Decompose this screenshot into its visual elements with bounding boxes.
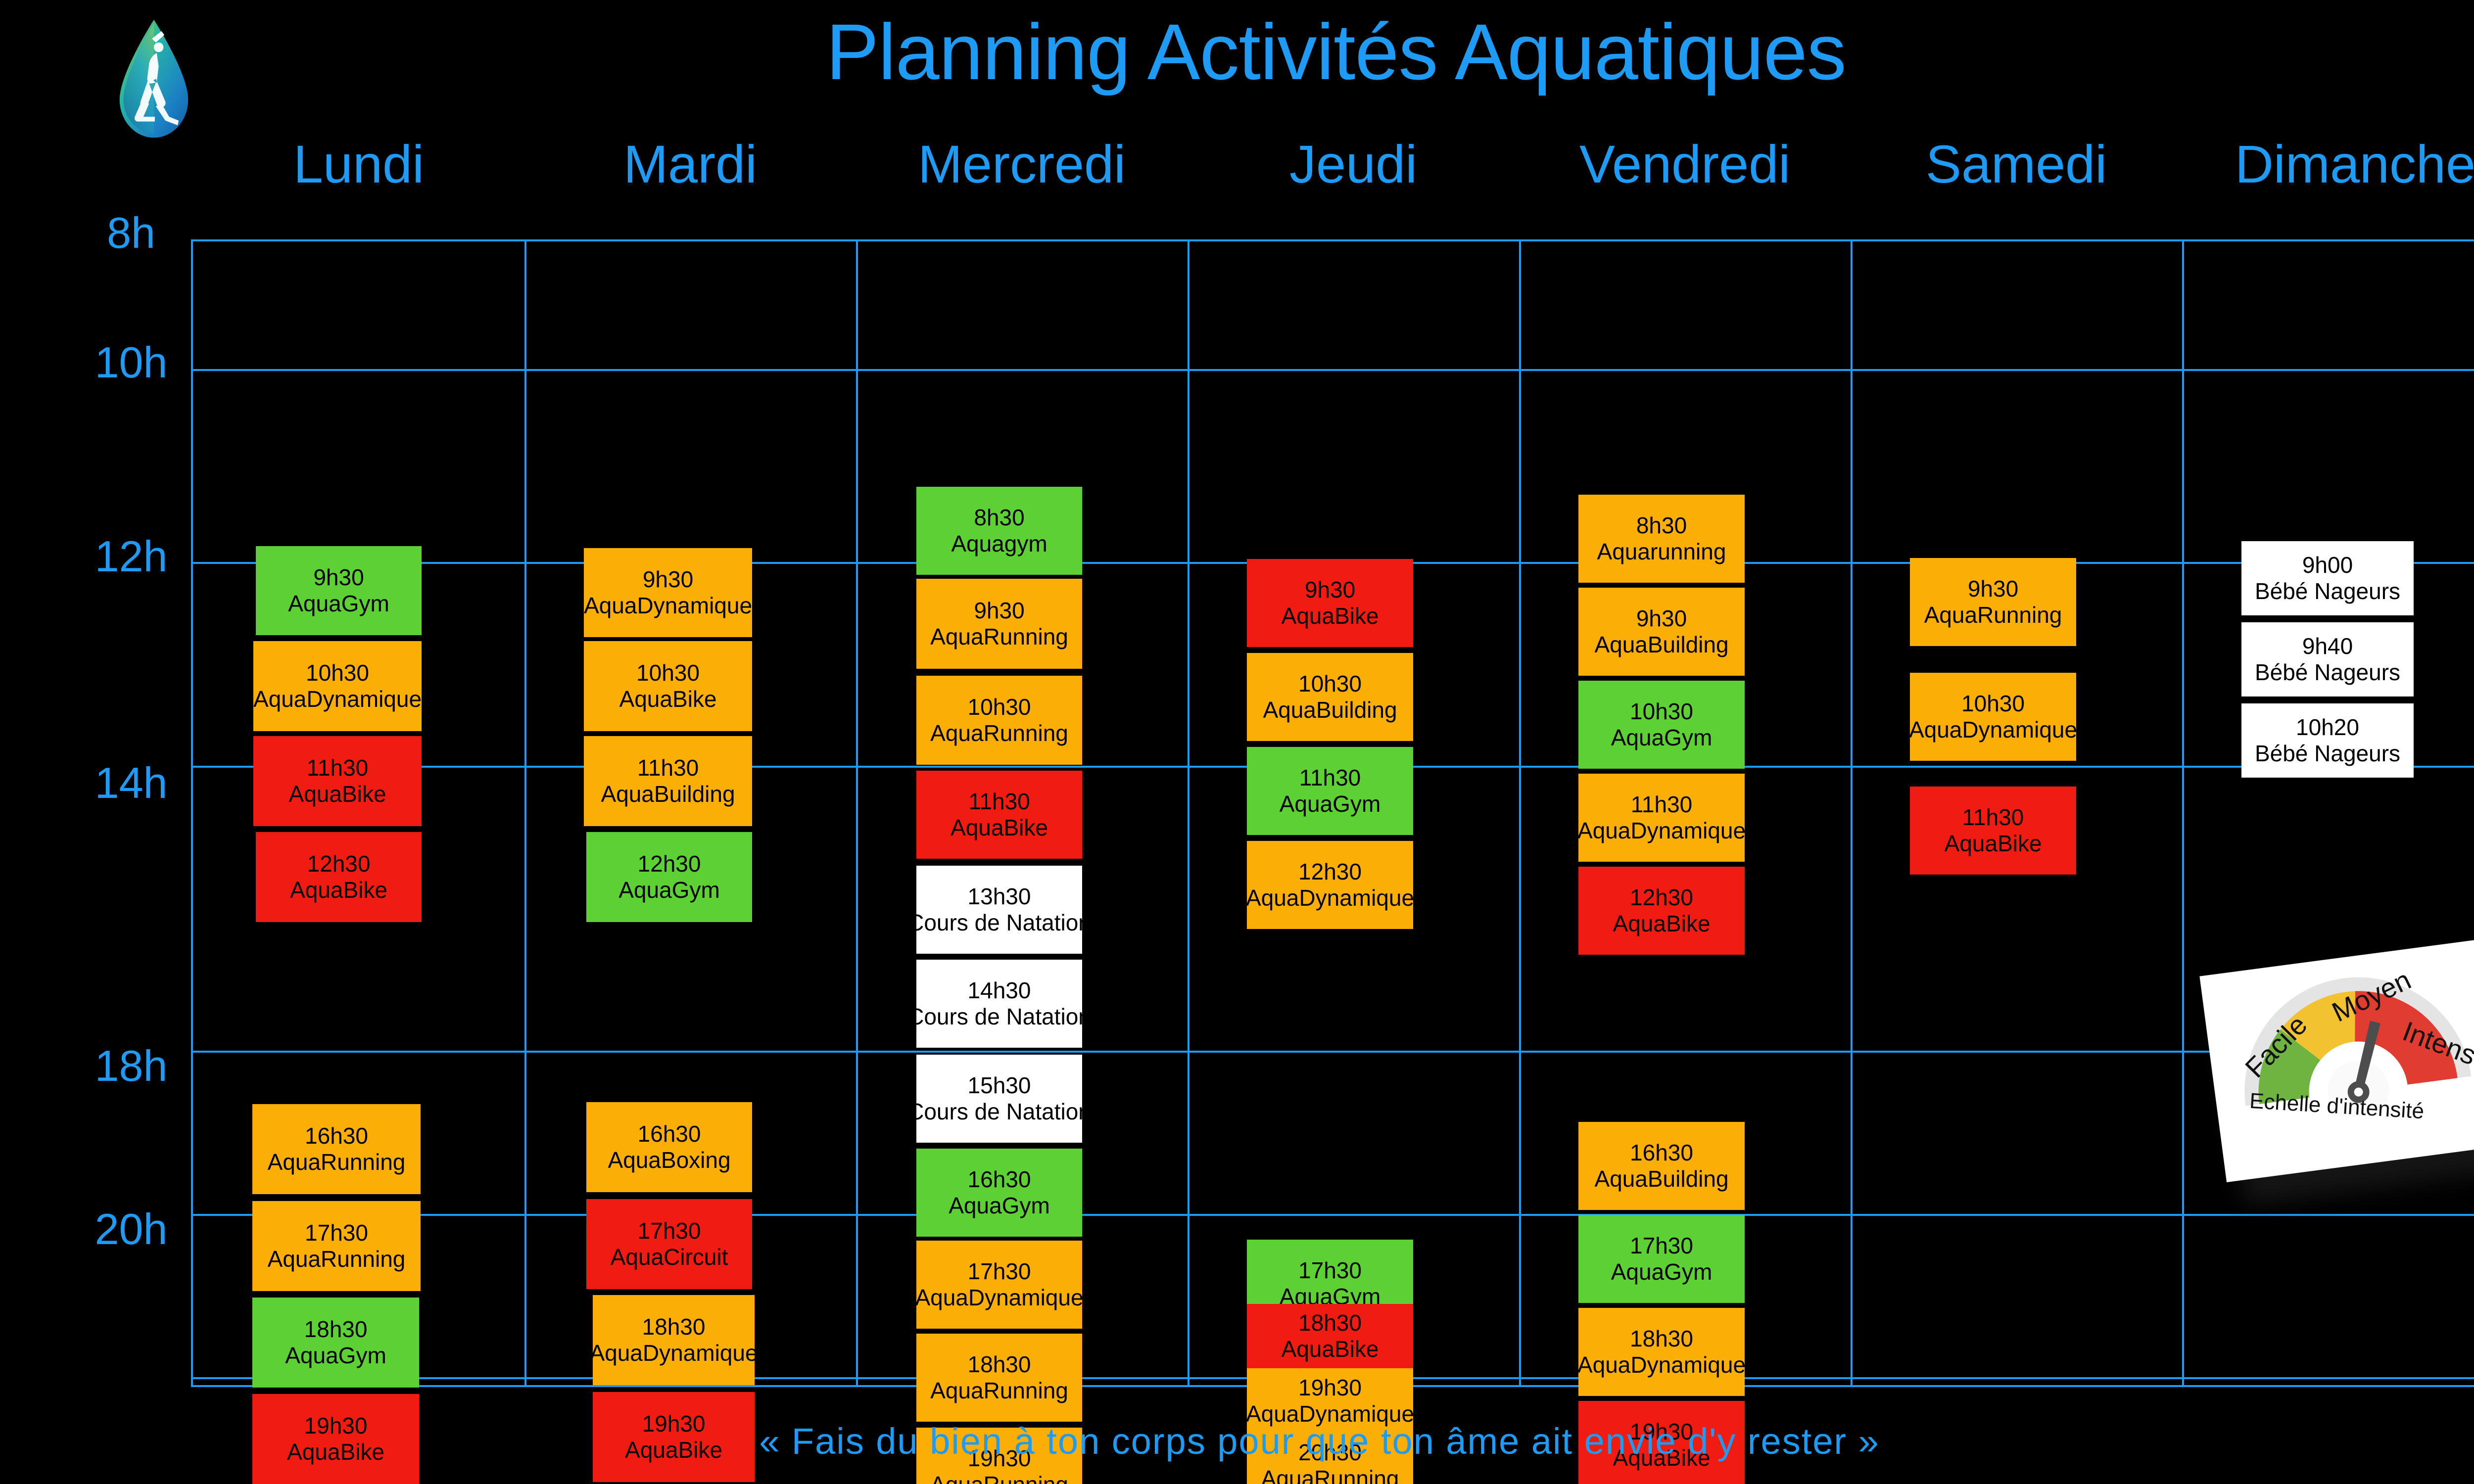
session-block[interactable]: 16h30AquaBuilding xyxy=(1578,1122,1745,1210)
session-time: 14h30 xyxy=(968,977,1031,1004)
day-header-vendredi: Vendredi xyxy=(1519,135,1851,194)
session-time: 18h30 xyxy=(1298,1310,1362,1336)
session-activity: AquaGym xyxy=(618,877,720,903)
session-time: 8h30 xyxy=(974,505,1024,531)
session-activity: AquaBoxing xyxy=(608,1147,730,1173)
page-title: Planning Activités Aquatiques xyxy=(495,5,2177,99)
session-time: 16h30 xyxy=(638,1121,701,1147)
session-activity: AquaRunning xyxy=(268,1149,406,1175)
session-block[interactable]: 11h30AquaBike xyxy=(253,736,422,826)
session-time: 12h30 xyxy=(1298,859,1362,885)
session-block[interactable]: 18h30AquaBike xyxy=(1247,1304,1413,1368)
session-activity: AquaBike xyxy=(619,686,717,712)
grid-hline xyxy=(193,1051,2474,1053)
session-time: 18h30 xyxy=(1630,1326,1693,1352)
session-block[interactable]: 11h30AquaBike xyxy=(916,771,1082,859)
session-time: 18h30 xyxy=(304,1316,368,1343)
session-activity: AquaBike xyxy=(290,877,387,903)
session-activity: AquaBike xyxy=(1945,831,2042,857)
session-activity: AquaGym xyxy=(949,1193,1050,1219)
water-drop-swimmer-logo xyxy=(92,18,216,141)
session-time: 17h30 xyxy=(638,1218,701,1244)
session-block[interactable]: 9h30AquaBike xyxy=(1247,559,1413,647)
session-block[interactable]: 9h30AquaBuilding xyxy=(1578,588,1745,676)
time-label-12h: 12h xyxy=(74,533,188,580)
schedule-grid: 9h30AquaGym10h30AquaDynamique11h30AquaBi… xyxy=(191,239,2474,1387)
session-block[interactable]: 9h30AquaRunning xyxy=(916,579,1082,669)
time-label-14h: 14h xyxy=(74,760,188,806)
day-header-mercredi: Mercredi xyxy=(856,135,1188,194)
schedule-poster: Planning Activités Aquatiques Lundi Mard… xyxy=(0,0,2474,1484)
session-time: 17h30 xyxy=(968,1258,1031,1285)
session-activity: AquaBuilding xyxy=(601,781,735,807)
session-activity: AquaDynamique xyxy=(593,1340,755,1366)
session-activity: AquaRunning xyxy=(930,624,1068,650)
session-time: 11h30 xyxy=(968,788,1030,815)
session-block[interactable]: 11h30AquaGym xyxy=(1247,747,1413,835)
session-time: 9h30 xyxy=(1636,605,1687,632)
session-time: 9h40 xyxy=(2302,633,2353,659)
session-block[interactable]: 10h30AquaGym xyxy=(1578,681,1745,769)
session-time: 18h30 xyxy=(642,1314,706,1340)
session-time: 10h30 xyxy=(968,694,1031,720)
session-block[interactable]: 11h30AquaBike xyxy=(1910,787,2076,875)
session-activity: AquaRunning xyxy=(268,1246,406,1272)
session-activity: Aquagym xyxy=(951,531,1047,557)
session-activity: AquaDynamique xyxy=(253,686,422,712)
session-block[interactable]: 11h30AquaDynamique xyxy=(1578,774,1745,862)
session-block[interactable]: 18h30AquaGym xyxy=(252,1298,419,1388)
session-activity: AquaDynamique xyxy=(1247,885,1413,911)
session-time: 9h30 xyxy=(313,564,364,591)
session-activity: AquaBuilding xyxy=(1594,632,1728,658)
grid-hline xyxy=(193,1214,2474,1216)
session-activity: AquaGym xyxy=(1280,791,1381,817)
session-time: 19h30 xyxy=(1298,1375,1362,1401)
session-activity: AquaBuilding xyxy=(1263,697,1397,723)
session-time: 15h30 xyxy=(968,1072,1031,1099)
session-block[interactable]: 17h30AquaCircuit xyxy=(586,1199,752,1289)
session-time: 17h30 xyxy=(1298,1257,1362,1284)
session-time: 11h30 xyxy=(637,755,699,781)
session-time: 10h30 xyxy=(636,660,700,686)
session-activity: AquaRunning xyxy=(1924,602,2062,628)
intensity-scale-card: Facile Moyen Intense Echelle d'intensité xyxy=(2199,935,2474,1182)
session-time: 17h30 xyxy=(1630,1233,1693,1259)
session-time: 10h30 xyxy=(306,660,369,686)
session-block[interactable]: 17h30AquaGym xyxy=(1578,1215,1745,1303)
session-block[interactable]: 8h30Aquarunning xyxy=(1578,495,1745,583)
session-block[interactable]: 15h30Cours de Natation xyxy=(916,1055,1082,1143)
session-time: 11h30 xyxy=(1299,765,1361,791)
session-time: 16h30 xyxy=(1630,1140,1693,1166)
session-time: 16h30 xyxy=(968,1166,1031,1193)
session-block[interactable]: 9h00Bébé Nageurs xyxy=(2241,541,2414,615)
session-activity: AquaDynamique xyxy=(584,593,752,619)
footer-tagline: « Fais du bien à ton corps pour que ton … xyxy=(0,1421,2474,1462)
session-activity: Bébé Nageurs xyxy=(2255,741,2400,767)
session-block[interactable]: 9h30AquaRunning xyxy=(1910,558,2076,646)
session-time: 9h30 xyxy=(1968,576,2018,602)
session-block[interactable]: 9h30AquaDynamique xyxy=(584,548,752,637)
session-activity: AquaDynamique xyxy=(1578,818,1745,844)
session-time: 12h30 xyxy=(638,851,701,877)
session-time: 11h30 xyxy=(307,755,369,781)
session-activity: AquaBike xyxy=(1282,603,1379,629)
session-activity: AquaDynamique xyxy=(1910,717,2076,743)
session-time: 18h30 xyxy=(968,1351,1031,1378)
time-label-20h: 20h xyxy=(74,1206,188,1252)
session-activity: AquaBike xyxy=(289,781,386,807)
session-block[interactable]: 18h30AquaDynamique xyxy=(1578,1308,1745,1396)
session-time: 13h30 xyxy=(968,883,1031,910)
session-time: 12h30 xyxy=(1630,884,1693,911)
day-header-lundi: Lundi xyxy=(193,135,524,194)
session-activity: AquaRunning xyxy=(930,720,1068,746)
session-activity: AquaDynamique xyxy=(916,1285,1082,1311)
session-block[interactable]: 10h30AquaDynamique xyxy=(253,641,422,731)
day-header-samedi: Samedi xyxy=(1851,135,2182,194)
session-activity: AquaRunning xyxy=(1261,1466,1399,1484)
session-block[interactable]: 12h30AquaBike xyxy=(256,832,422,922)
session-block[interactable]: 16h30AquaGym xyxy=(916,1149,1082,1237)
session-block[interactable]: 9h30AquaGym xyxy=(256,546,422,635)
session-activity: AquaDynamique xyxy=(1578,1352,1745,1378)
session-block[interactable]: 17h30AquaRunning xyxy=(252,1201,421,1291)
session-time: 9h00 xyxy=(2302,552,2353,578)
session-time: 9h30 xyxy=(643,566,693,593)
time-label-10h: 10h xyxy=(74,339,188,386)
session-time: 17h30 xyxy=(305,1220,368,1246)
session-activity: AquaBike xyxy=(1282,1336,1379,1362)
session-block[interactable]: 18h30AquaDynamique xyxy=(593,1295,755,1385)
day-header-dimanche: Dimanche xyxy=(2177,135,2474,194)
session-activity: Cours de Natation xyxy=(916,910,1082,936)
session-activity: AquaGym xyxy=(288,591,389,617)
session-block[interactable]: 18h30AquaRunning xyxy=(916,1334,1082,1422)
session-time: 8h30 xyxy=(1636,512,1687,539)
session-block[interactable]: 12h30AquaBike xyxy=(1578,867,1745,955)
session-time: 9h30 xyxy=(974,598,1024,624)
time-label-18h: 18h xyxy=(74,1043,188,1089)
day-header-jeudi: Jeudi xyxy=(1188,135,1519,194)
session-time: 11h30 xyxy=(1962,804,2024,831)
session-time: 10h30 xyxy=(1630,698,1693,725)
session-block[interactable]: 11h30AquaBuilding xyxy=(584,736,752,826)
session-activity: AquaGym xyxy=(285,1343,386,1369)
day-header-mardi: Mardi xyxy=(524,135,856,194)
session-time: 10h30 xyxy=(1298,671,1362,697)
time-label-8h: 8h xyxy=(74,210,188,256)
session-block[interactable]: 8h30Aquagym xyxy=(916,487,1082,575)
session-block[interactable]: 17h30AquaDynamique xyxy=(916,1241,1082,1329)
session-activity: AquaBike xyxy=(1613,911,1711,937)
session-block[interactable]: 10h30AquaBike xyxy=(584,641,752,731)
session-activity: AquaBuilding xyxy=(1594,1166,1728,1192)
session-block[interactable]: 12h30AquaDynamique xyxy=(1247,841,1413,929)
session-activity: Bébé Nageurs xyxy=(2255,659,2400,686)
session-time: 11h30 xyxy=(1631,791,1693,818)
session-block[interactable]: 12h30AquaGym xyxy=(586,832,752,922)
grid-hline xyxy=(193,369,2474,371)
session-activity: Cours de Natation xyxy=(916,1099,1082,1125)
session-activity: AquaRunning xyxy=(930,1472,1068,1484)
session-time: 10h20 xyxy=(2296,714,2359,741)
session-block[interactable]: 10h20Bébé Nageurs xyxy=(2241,703,2414,778)
session-time: 10h30 xyxy=(1961,691,2025,717)
session-activity: AquaCircuit xyxy=(611,1244,728,1270)
session-activity: AquaGym xyxy=(1611,1259,1713,1285)
session-time: 16h30 xyxy=(305,1123,368,1149)
session-activity: AquaGym xyxy=(1611,725,1713,751)
session-block[interactable]: 14h30Cours de Natation xyxy=(916,960,1082,1048)
session-block[interactable]: 10h30AquaRunning xyxy=(916,676,1082,765)
session-activity: AquaBike xyxy=(951,815,1048,841)
session-block[interactable]: 16h30AquaBoxing xyxy=(586,1102,752,1192)
session-block[interactable]: 10h30AquaDynamique xyxy=(1910,673,2076,761)
session-activity: Bébé Nageurs xyxy=(2255,578,2400,604)
session-block[interactable]: 16h30AquaRunning xyxy=(252,1104,421,1194)
session-time: 9h30 xyxy=(1305,577,1355,603)
session-block[interactable]: 13h30Cours de Natation xyxy=(916,866,1082,954)
session-activity: Cours de Natation xyxy=(916,1004,1082,1030)
session-block[interactable]: 9h40Bébé Nageurs xyxy=(2241,622,2414,696)
session-time: 12h30 xyxy=(307,851,371,877)
session-activity: Aquarunning xyxy=(1597,539,1726,565)
session-activity: AquaRunning xyxy=(930,1378,1068,1404)
session-block[interactable]: 10h30AquaBuilding xyxy=(1247,653,1413,741)
